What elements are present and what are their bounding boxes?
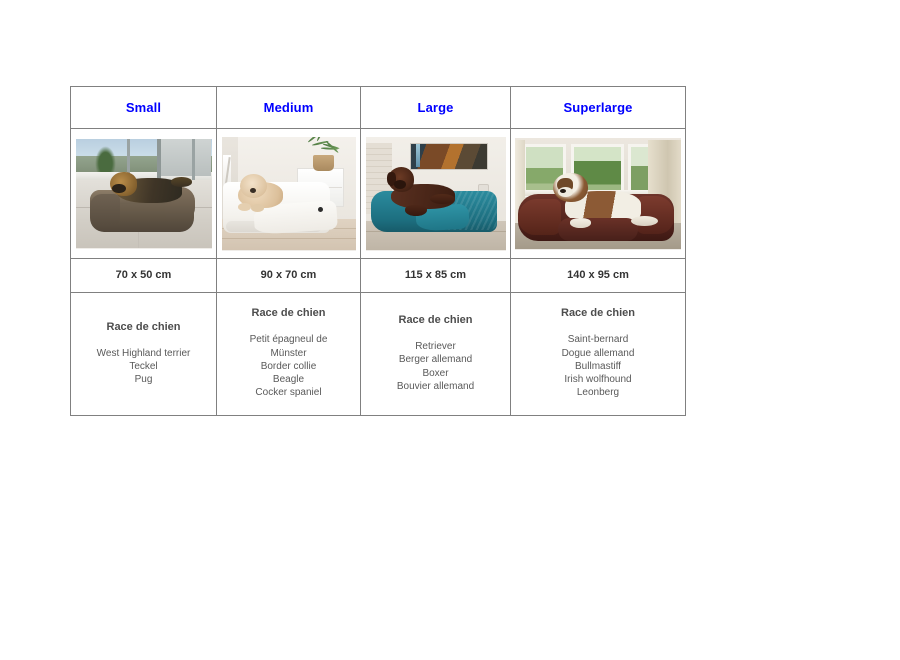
breed-item: Boxer bbox=[361, 367, 510, 380]
photo-cell-medium bbox=[217, 129, 361, 259]
breed-item: Dogue allemand bbox=[511, 347, 685, 360]
breeds-label-medium: Race de chien bbox=[217, 308, 360, 319]
breeds-cell-large: Race de chien Retriever Berger allemand … bbox=[361, 293, 511, 416]
breed-item: Petit épagneul de bbox=[217, 333, 360, 346]
photo-cell-small bbox=[71, 129, 217, 259]
header-cell-small: Small bbox=[71, 87, 217, 129]
dimension-superlarge: 140 x 95 cm bbox=[511, 270, 685, 281]
scene-dog-paw bbox=[238, 203, 251, 211]
scene-dog-tail bbox=[171, 177, 193, 187]
size-title-large: Large bbox=[361, 101, 510, 114]
scene-dog-head bbox=[240, 174, 267, 198]
scene-wall bbox=[160, 139, 212, 176]
photo-wrap-small bbox=[71, 139, 216, 249]
breed-item: Berger allemand bbox=[361, 353, 510, 366]
breed-item: Bullmastiff bbox=[511, 360, 685, 373]
table-photo-row bbox=[71, 129, 686, 259]
photo-superlarge-dog-bed bbox=[515, 138, 681, 250]
scene-dog-tail bbox=[631, 216, 658, 226]
size-title-medium: Medium bbox=[217, 101, 360, 114]
breed-item: Border collie bbox=[217, 360, 360, 373]
breed-item: Münster bbox=[217, 347, 360, 360]
breed-item: Retriever bbox=[361, 340, 510, 353]
breed-item: West Highland terrier bbox=[71, 347, 216, 360]
breed-item: Bouvier allemand bbox=[361, 380, 510, 393]
photo-wrap-superlarge bbox=[511, 138, 685, 250]
scene-window-frame bbox=[157, 139, 161, 183]
breed-item: Cocker spaniel bbox=[217, 386, 360, 399]
breed-item: Irish wolfhound bbox=[511, 373, 685, 386]
photo-large-dog-bed bbox=[366, 137, 506, 251]
scene-floor-seam bbox=[222, 238, 356, 239]
breeds-label-superlarge: Race de chien bbox=[511, 308, 685, 319]
header-cell-superlarge: Superlarge bbox=[511, 87, 686, 129]
breeds-list-superlarge: Saint-bernard Dogue allemand Bullmastiff… bbox=[511, 333, 685, 399]
breeds-cell-small: Race de chien West Highland terrier Teck… bbox=[71, 293, 217, 416]
dog-bed-size-guide-table: Small Medium Large Superlarge bbox=[70, 86, 686, 416]
photo-wrap-medium bbox=[217, 137, 360, 251]
photo-small-dog-bed bbox=[76, 139, 212, 249]
table-breeds-row: Race de chien West Highland terrier Teck… bbox=[71, 293, 686, 416]
header-cell-large: Large bbox=[361, 87, 511, 129]
breeds-list-medium: Petit épagneul de Münster Border collie … bbox=[217, 333, 360, 399]
size-title-small: Small bbox=[71, 101, 216, 114]
breeds-cell-superlarge: Race de chien Saint-bernard Dogue allema… bbox=[511, 293, 686, 416]
scene-plant bbox=[95, 146, 117, 175]
breed-item: Beagle bbox=[217, 373, 360, 386]
dimension-small: 70 x 50 cm bbox=[71, 270, 216, 281]
dimension-cell-medium: 90 x 70 cm bbox=[217, 259, 361, 293]
dimension-cell-superlarge: 140 x 95 cm bbox=[511, 259, 686, 293]
breeds-label-small: Race de chien bbox=[71, 322, 216, 333]
scene-dog-leg bbox=[430, 194, 455, 204]
dimension-large: 115 x 85 cm bbox=[361, 270, 510, 281]
table-header-row: Small Medium Large Superlarge bbox=[71, 87, 686, 129]
scene-window-frame bbox=[192, 139, 195, 183]
scene-dog-paw bbox=[251, 204, 264, 212]
table-dimension-row: 70 x 50 cm 90 x 70 cm 115 x 85 cm 140 x … bbox=[71, 259, 686, 293]
breed-item: Saint-bernard bbox=[511, 333, 685, 346]
photo-wrap-large bbox=[361, 137, 510, 251]
breed-item: Pug bbox=[71, 373, 216, 386]
breed-item: Teckel bbox=[71, 360, 216, 373]
breeds-list-large: Retriever Berger allemand Boxer Bouvier … bbox=[361, 340, 510, 393]
breeds-cell-medium: Race de chien Petit épagneul de Münster … bbox=[217, 293, 361, 416]
scene-dog-bed-side bbox=[518, 199, 561, 235]
dimension-cell-large: 115 x 85 cm bbox=[361, 259, 511, 293]
scene-dog-muzzle bbox=[394, 180, 407, 189]
scene-artwork-detail bbox=[416, 144, 420, 167]
photo-medium-dog-bed bbox=[222, 137, 356, 251]
header-cell-medium: Medium bbox=[217, 87, 361, 129]
size-title-superlarge: Superlarge bbox=[511, 101, 685, 114]
photo-cell-large bbox=[361, 129, 511, 259]
breeds-list-small: West Highland terrier Teckel Pug bbox=[71, 347, 216, 387]
dimension-medium: 90 x 70 cm bbox=[217, 270, 360, 281]
scene-wall-artwork bbox=[410, 143, 488, 170]
breed-item: Leonberg bbox=[511, 386, 685, 399]
breeds-label-large: Race de chien bbox=[361, 315, 510, 326]
scene-dog-bed-side bbox=[90, 194, 120, 227]
scene-plant bbox=[305, 139, 345, 158]
photo-cell-superlarge bbox=[511, 129, 686, 259]
dimension-cell-small: 70 x 50 cm bbox=[71, 259, 217, 293]
